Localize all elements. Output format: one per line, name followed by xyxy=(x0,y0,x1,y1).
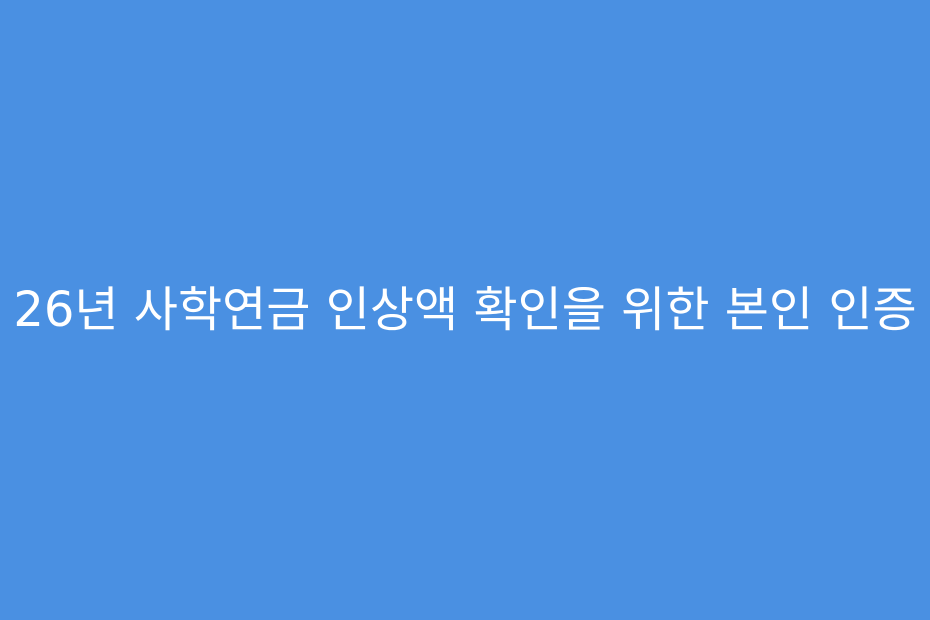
notice-banner: 26년 사학연금 인상액 확인을 위한 본인 인증 xyxy=(0,0,930,620)
headline-container: 26년 사학연금 인상액 확인을 위한 본인 인증 xyxy=(0,285,930,335)
banner-headline-text: 26년 사학연금 인상액 확인을 위한 본인 인증 xyxy=(13,285,916,335)
